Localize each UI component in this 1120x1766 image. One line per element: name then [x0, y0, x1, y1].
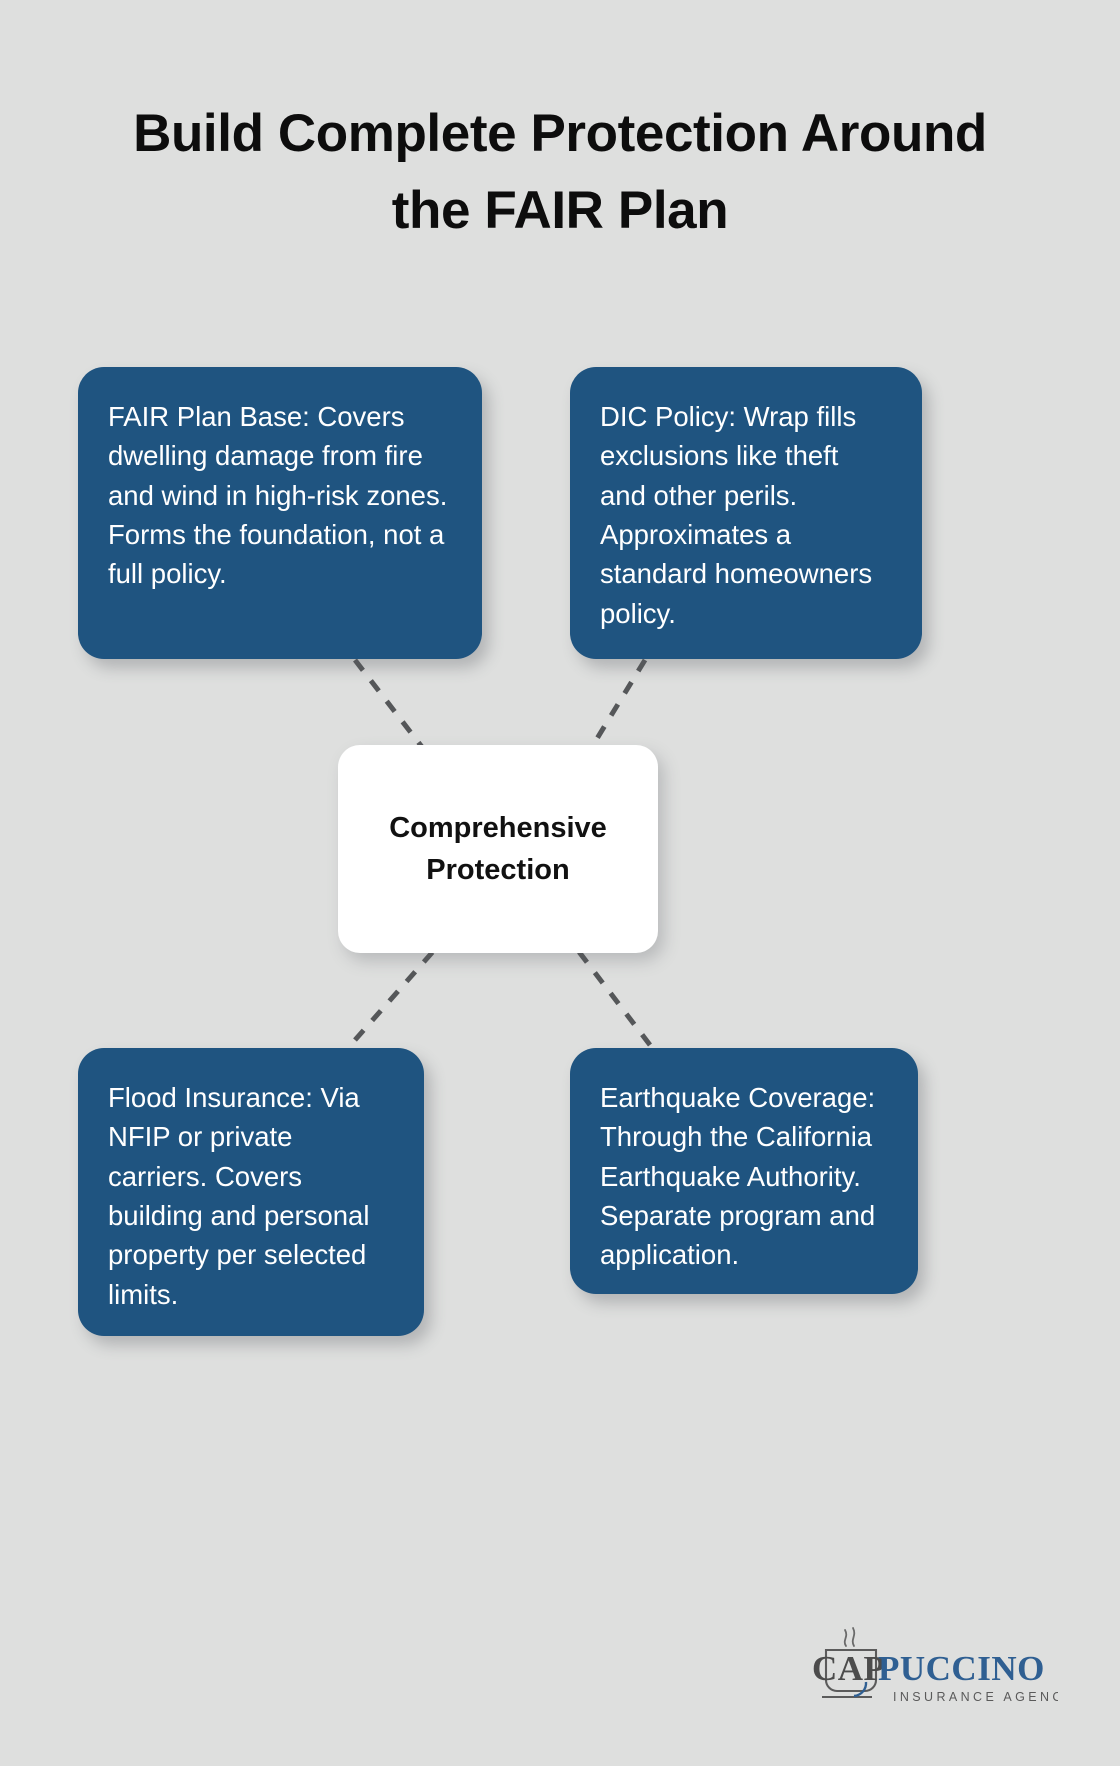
infographic-canvas: Build Complete Protection Around the FAI…	[0, 0, 1120, 1766]
page-title: Build Complete Protection Around the FAI…	[0, 96, 1120, 250]
card-flood-insurance[interactable]: Flood Insurance: Via NFIP or private car…	[78, 1048, 424, 1336]
center-hub-comprehensive-protection[interactable]: Comprehensive Protection	[338, 745, 658, 953]
center-hub-label: Comprehensive Protection	[364, 807, 632, 891]
card-dic-policy-text: DIC Policy: Wrap fills exclusions like t…	[600, 397, 889, 633]
card-earthquake-coverage-text: Earthquake Coverage: Through the Califor…	[600, 1078, 885, 1275]
connector-bottom-right	[570, 940, 650, 1045]
logo-wordmark-part2: PUCCINO	[878, 1649, 1045, 1688]
card-fair-plan-base-text: FAIR Plan Base: Covers dwelling damage f…	[108, 397, 449, 594]
logo-wordmark-part1: CAP	[812, 1649, 885, 1688]
brand-logo: CAP PUCCINO INSURANCE AGENCY	[808, 1624, 1058, 1716]
steam-icon	[845, 1628, 855, 1646]
card-flood-insurance-text: Flood Insurance: Via NFIP or private car…	[108, 1078, 391, 1314]
card-earthquake-coverage[interactable]: Earthquake Coverage: Through the Califor…	[570, 1048, 918, 1294]
card-dic-policy[interactable]: DIC Policy: Wrap fills exclusions like t…	[570, 367, 922, 659]
logo-tagline: INSURANCE AGENCY	[893, 1690, 1058, 1704]
card-fair-plan-base[interactable]: FAIR Plan Base: Covers dwelling damage f…	[78, 367, 482, 659]
